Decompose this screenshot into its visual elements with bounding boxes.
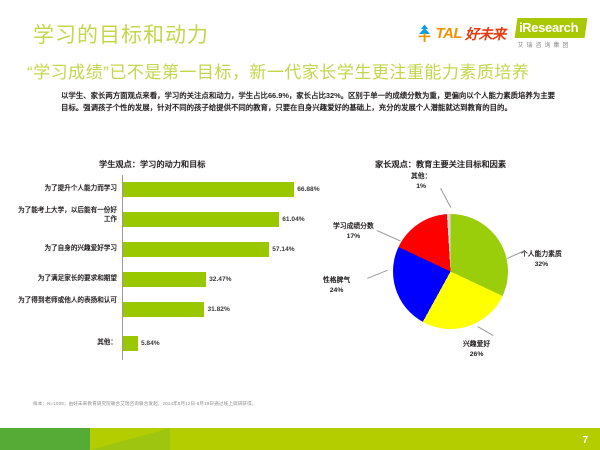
- pie-graphic: [393, 214, 508, 329]
- pie-slice-label: 学习成绩分数17%: [333, 222, 374, 242]
- bar-category-label: 为了自身的兴趣爱好学习: [18, 245, 117, 254]
- bar-row: 为了得到老师或他人的表扬和认可31.82%: [18, 301, 318, 319]
- pie-slice-value: 32%: [521, 260, 562, 270]
- bar-value-label: 32.47%: [209, 276, 231, 283]
- pie-chart: 个人能力素质32%兴趣爱好26%性格脾气24%学习成绩分数17%其他：1%: [325, 172, 595, 367]
- iresearch-logo: iResearch 艾瑞咨询集团: [516, 18, 586, 49]
- bar-category-label: 其他：: [18, 339, 117, 348]
- slide: 学习的目标和动力 TAL 好未来 iResearch 艾瑞咨询集团 “学习成绩”…: [0, 0, 600, 450]
- bar-chart-title: 学生观点：学习的动力和目标: [99, 158, 205, 170]
- tal-tree-icon: [416, 24, 433, 43]
- bar: [123, 302, 204, 317]
- tal-wordmark: TAL: [436, 25, 463, 42]
- pie-slice-name: 个人能力素质: [521, 251, 562, 258]
- bar: [123, 182, 294, 197]
- bar: [123, 242, 269, 257]
- iresearch-name: Research: [522, 20, 578, 35]
- bar-value-label: 5.84%: [141, 340, 160, 347]
- bar-chart: 为了提升个人能力而学习66.88%为了能考上大学，以后能有一份好工作61.04%…: [18, 175, 318, 365]
- footer-accent: [0, 428, 90, 450]
- pie-slice-label: 性格脾气24%: [323, 276, 350, 296]
- logo-group: TAL 好未来 iResearch 艾瑞咨询集团: [416, 18, 587, 49]
- bar: [123, 272, 206, 287]
- bar-row: 其他：5.84%: [18, 335, 318, 353]
- bar-value-label: 57.14%: [272, 246, 294, 253]
- bar-chart-axis: [122, 175, 123, 360]
- pie-leader-line: [377, 230, 401, 241]
- bar-row: 为了能考上大学，以后能有一份好工作61.04%: [18, 211, 318, 229]
- tal-wordmark-cn: 好未来: [465, 24, 506, 44]
- page-subtitle: “学习成绩”已不是第一目标，新一代家长学生更注重能力素质培养: [27, 58, 529, 83]
- bar-value-label: 66.88%: [297, 186, 319, 193]
- bar-category-label: 为了提升个人能力而学习: [18, 185, 117, 194]
- bar-category-label: 为了满足家长的要求和期望: [18, 275, 117, 284]
- pie-slice-name: 兴趣爱好: [463, 341, 490, 348]
- footer-bar: 7: [0, 428, 600, 450]
- bar-row: 为了自身的兴趣爱好学习57.14%: [18, 241, 318, 259]
- pie-slice-label: 个人能力素质32%: [521, 250, 562, 270]
- pie-slice-label: 兴趣爱好26%: [463, 340, 490, 360]
- iresearch-subtitle: 艾瑞咨询集团: [516, 40, 572, 49]
- iresearch-wordmark: iResearch: [514, 18, 587, 38]
- pie-slice-name: 性格脾气: [323, 277, 350, 284]
- bar-category-label: 为了得到老师或他人的表扬和认可: [18, 297, 117, 306]
- bar-value-label: 31.82%: [207, 306, 229, 313]
- pie-slice-value: 1%: [411, 182, 431, 192]
- pie-slice-value: 26%: [463, 350, 490, 360]
- pie-slice-name: 学习成绩分数: [333, 223, 374, 230]
- page-number: 7: [582, 435, 588, 446]
- lead-paragraph: 以学生、家长两方面观点来看，学习的关注点和动力，学生占比66.9%，家长占比32…: [61, 90, 561, 113]
- source-note: 样本：N=1008；由好未来教育研究院联合艾瑞咨询联合发起，2014年8月12日…: [33, 401, 256, 407]
- bar: [123, 212, 279, 227]
- bar-category-label: 为了能考上大学，以后能有一份好工作: [18, 207, 117, 224]
- page-title: 学习的目标和动力: [33, 19, 209, 49]
- bar-value-label: 61.04%: [282, 216, 304, 223]
- pie-slice-value: 17%: [333, 232, 374, 242]
- pie-chart-title: 家长观点：教育主要关注目标和因素: [375, 158, 506, 170]
- bar: [123, 336, 138, 351]
- pie-leader-line: [477, 326, 493, 336]
- pie-leader-line: [440, 188, 451, 208]
- bar-row: 为了提升个人能力而学习66.88%: [18, 181, 318, 199]
- pie-slice-name: 其他：: [411, 173, 431, 180]
- pie-leader-line: [367, 270, 388, 279]
- tal-logo: TAL 好未来: [416, 24, 506, 44]
- pie-slice-label: 其他：1%: [411, 172, 431, 192]
- bar-row: 为了满足家长的要求和期望32.47%: [18, 271, 318, 289]
- pie-slice-value: 24%: [323, 286, 350, 296]
